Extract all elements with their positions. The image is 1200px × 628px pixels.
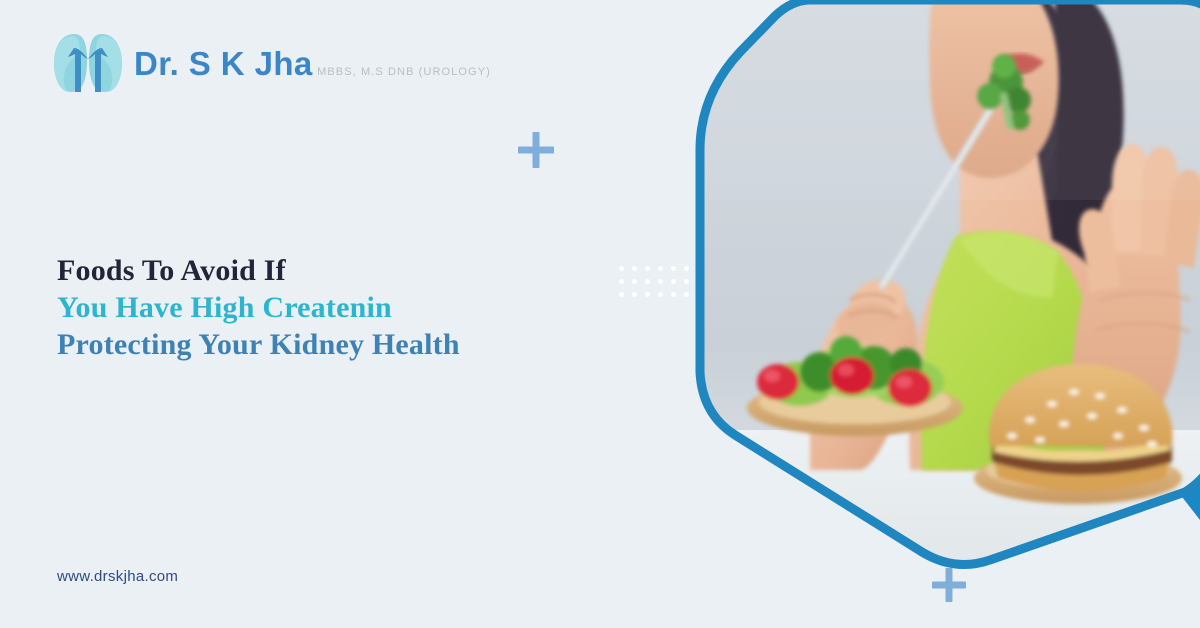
grid-dot: [619, 266, 624, 271]
banner-root: Dr. S K Jha MBBS, M.S DNB (UROLOGY) Food…: [0, 0, 1200, 628]
hero-image: [660, 0, 1200, 628]
grid-dot: [671, 292, 676, 297]
grid-dot: [658, 266, 663, 271]
grid-dot: [684, 292, 689, 297]
grid-dot: [658, 292, 663, 297]
grid-dot: [684, 266, 689, 271]
grid-dot: [645, 266, 650, 271]
grid-dot: [632, 292, 637, 297]
website-url[interactable]: www.drskjha.com: [57, 568, 178, 585]
grid-dot: [645, 292, 650, 297]
hero-photo: [660, 0, 1200, 628]
headline-line-1: Foods To Avoid If: [57, 252, 460, 289]
plus-icon-bottom: [932, 568, 966, 602]
grid-dot: [671, 279, 676, 284]
headline: Foods To Avoid If You Have High Createni…: [57, 252, 460, 363]
grid-dot: [645, 279, 650, 284]
site-logo[interactable]: Dr. S K Jha MBBS, M.S DNB (UROLOGY): [52, 30, 491, 96]
brand-name: Dr. S K Jha: [134, 45, 313, 82]
plus-icon-top: [518, 132, 554, 168]
grid-dot: [632, 279, 637, 284]
grid-dot: [671, 266, 676, 271]
brand-credentials: MBBS, M.S DNB (UROLOGY): [317, 66, 491, 78]
dot-grid-pattern: [619, 266, 697, 305]
grid-dot: [658, 279, 663, 284]
headline-line-3: Protecting Your Kidney Health: [57, 326, 460, 363]
kidney-pair-icon: [52, 30, 124, 96]
grid-dot: [684, 279, 689, 284]
grid-dot: [619, 292, 624, 297]
headline-line-2: You Have High Createnin: [57, 289, 460, 326]
grid-dot: [632, 266, 637, 271]
grid-dot: [619, 279, 624, 284]
